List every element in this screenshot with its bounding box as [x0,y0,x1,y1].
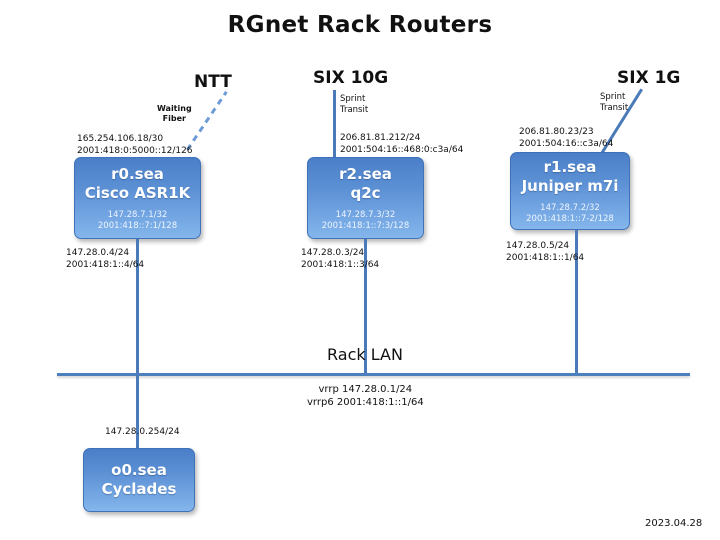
uplink-note-ntt-line1: Waiting [157,104,192,113]
uplink-note-six10g: Sprint Transit [340,94,368,116]
uplink-note-six10g-line1: Sprint [340,94,365,104]
uplink-note-six1g-line1: Sprint [600,92,625,102]
node-r2-name: r2.sea [339,165,392,184]
lan-address-r2-v6: 2001:418:1::3/64 [301,260,379,270]
node-r1-loopback4: 147.28.7.2/32 [540,203,600,213]
uplink-address-r2-v4: 206.81.81.212/24 [340,133,420,143]
lan-address-r0-v4: 147.28.0.4/24 [66,248,129,258]
node-r2-loopback4: 147.28.7.3/32 [336,210,396,220]
uplink-address-r1: 206.81.80.23/23 2001:504:16::c3a/64 [519,127,613,150]
uplink-address-r2: 206.81.81.212/24 2001:504:16::468:0:c3a/… [340,133,463,156]
diagram-canvas: RGnet Rack Routers NTT Waiting Fiber SIX… [0,0,720,540]
uplink-address-r0-v6: 2001:418:0:5000::12/126 [77,146,193,156]
uplink-address-r1-v6: 2001:504:16::c3a/64 [519,139,613,149]
uplink-note-six1g: Sprint Transit [600,92,628,114]
node-r0-loopback6: 2001:418::7:1/128 [98,221,177,231]
node-r2-model: q2c [350,184,380,203]
node-r1-name: r1.sea [544,158,597,177]
uplink-address-r1-v4: 206.81.80.23/23 [519,127,594,137]
node-r1-loopbacks: 147.28.7.2/32 2001:418:1::7-2/128 [526,203,614,225]
vrrp-v4: vrrp 147.28.0.1/24 [319,384,413,395]
uplink-label-six10g: SIX 10G [313,68,388,88]
node-o0-name: o0.sea [111,461,167,480]
date-stamp: 2023.04.28 [645,518,702,529]
node-r2-loopbacks: 147.28.7.3/32 2001:418:1::7:3/128 [322,210,410,232]
node-o0-model: Cyclades [102,480,177,499]
uplink-label-six1g: SIX 1G [617,68,680,88]
node-r0-loopbacks: 147.28.7.1/32 2001:418::7:1/128 [98,210,177,232]
node-r0-model: Cisco ASR1K [85,184,191,203]
lan-address-r1: 147.28.0.5/24 2001:418:1::1/64 [506,241,584,264]
node-r1-sea[interactable]: r1.sea Juniper m7i 147.28.7.2/32 2001:41… [510,152,630,230]
node-r1-model: Juniper m7i [522,177,619,196]
vrrp-info: vrrp 147.28.0.1/24 vrrp6 2001:418:1::1/6… [307,383,424,409]
lan-address-o0: 147.28.0.254/24 [105,427,180,439]
node-r0-sea[interactable]: r0.sea Cisco ASR1K 147.28.7.1/32 2001:41… [74,157,201,239]
uplink-note-ntt-line2: Fiber [163,114,186,123]
node-r0-loopback4: 147.28.7.1/32 [108,210,168,220]
lan-title: Rack LAN [327,345,403,364]
page-title: RGnet Rack Routers [0,12,720,38]
rack-lan-bus [57,373,690,376]
lan-address-r0-v6: 2001:418:1::4/64 [66,260,144,270]
vrrp-v6: vrrp6 2001:418:1::1/64 [307,397,424,408]
node-r1-loopback6: 2001:418:1::7-2/128 [526,214,614,224]
uplink-label-ntt: NTT [194,72,232,92]
node-r0-name: r0.sea [111,165,164,184]
node-r2-sea[interactable]: r2.sea q2c 147.28.7.3/32 2001:418:1::7:3… [307,157,424,239]
uplink-link-six10g [333,90,336,157]
node-o0-sea[interactable]: o0.sea Cyclades [83,448,195,512]
uplink-address-r0: 165.254.106.18/30 2001:418:0:5000::12/12… [77,134,193,157]
lan-address-r1-v6: 2001:418:1::1/64 [506,253,584,263]
lan-address-r2-v4: 147.28.0.3/24 [301,248,364,258]
lan-address-r0: 147.28.0.4/24 2001:418:1::4/64 [66,248,144,271]
lan-address-r2: 147.28.0.3/24 2001:418:1::3/64 [301,248,379,271]
lan-address-r1-v4: 147.28.0.5/24 [506,241,569,251]
uplink-address-r0-v4: 165.254.106.18/30 [77,134,163,144]
node-r2-loopback6: 2001:418:1::7:3/128 [322,221,410,231]
uplink-address-r2-v6: 2001:504:16::468:0:c3a/64 [340,145,463,155]
uplink-note-six10g-line2: Transit [340,105,368,115]
uplink-note-six1g-line2: Transit [600,103,628,113]
uplink-note-ntt: Waiting Fiber [157,104,192,124]
